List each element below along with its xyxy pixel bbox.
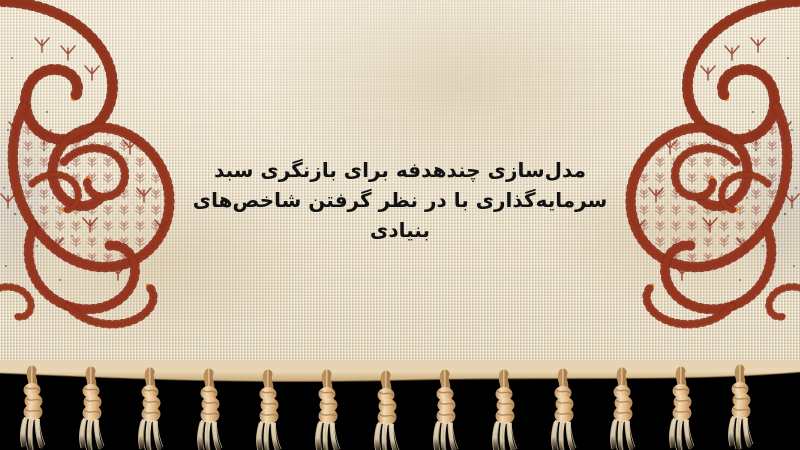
title-line-1: مدل‌سازی چندهدفه برای بازنگری سبد — [170, 155, 630, 185]
title-line-2: سرمایه‌گذاری با در نظر گرفتن شاخص‌های — [170, 185, 630, 215]
title-slide: مدل‌سازی چندهدفه برای بازنگری سبد سرمایه… — [0, 0, 800, 450]
title-line-3: بنیادی — [170, 215, 630, 245]
slide-title: مدل‌سازی چندهدفه برای بازنگری سبد سرمایه… — [170, 155, 630, 245]
cloth-hem-shadow — [0, 371, 800, 378]
